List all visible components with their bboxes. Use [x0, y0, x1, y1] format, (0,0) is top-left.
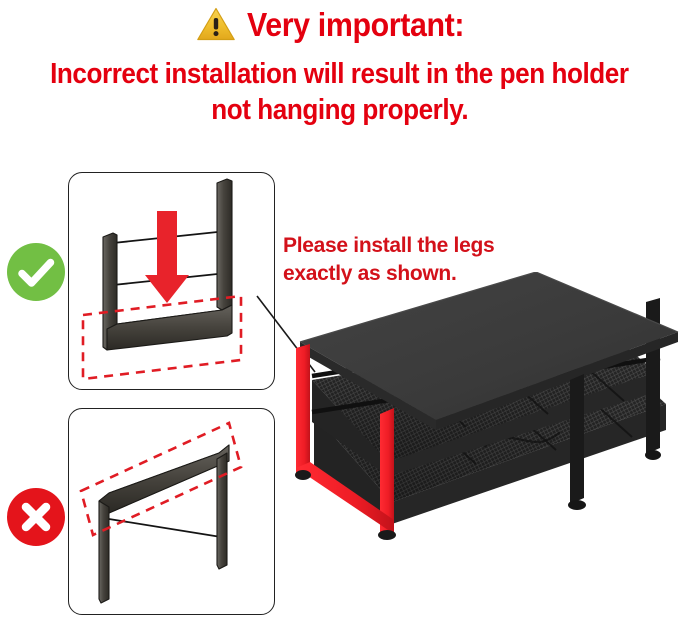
correct-leg-diagram: [69, 173, 274, 389]
warning-heading-block: Very important: Incorrect installation w…: [0, 0, 679, 140]
heading-line-3: not hanging properly.: [0, 94, 679, 127]
check-circle-icon: [7, 243, 65, 301]
heading-title-row: Very important:: [0, 6, 679, 47]
heading-line-2: Incorrect installation will result in th…: [0, 58, 679, 91]
foot-rear-right: [645, 450, 661, 460]
warning-triangle-icon: [196, 6, 236, 47]
foot-front-left: [378, 530, 396, 540]
product-photo: [288, 272, 679, 564]
cross-circle-icon: [7, 488, 65, 546]
panel-correct: [68, 172, 275, 390]
page-title: Very important:: [247, 6, 464, 44]
leg-front-right: [570, 374, 584, 504]
callout-line-1: Please install the legs: [283, 232, 494, 260]
panel-incorrect: [68, 408, 275, 615]
foot-front-right: [568, 500, 586, 510]
monitor-stand-illustration: [288, 272, 679, 564]
red-down-arrow-icon: [145, 211, 189, 303]
foot-rear-left: [295, 470, 311, 480]
incorrect-leg-diagram: [69, 409, 274, 614]
